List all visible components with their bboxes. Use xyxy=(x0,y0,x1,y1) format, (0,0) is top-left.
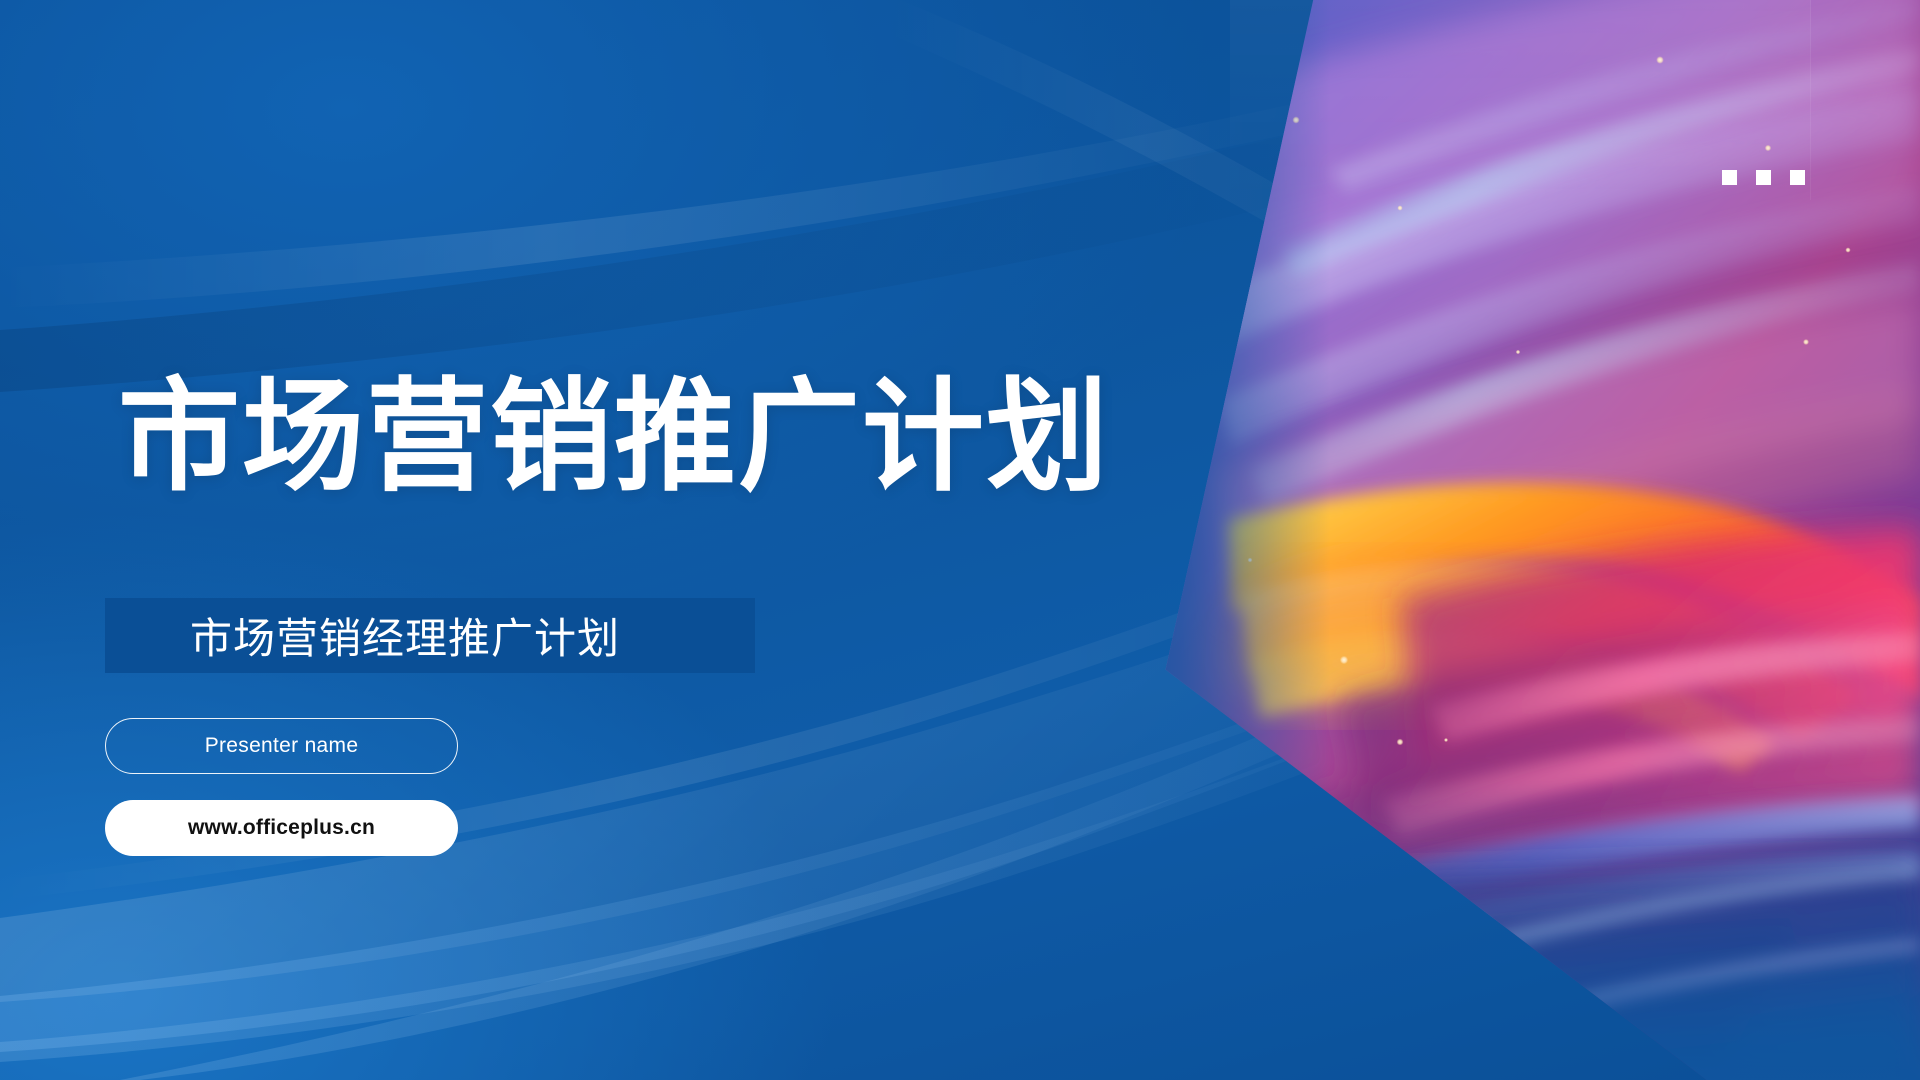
slide-content: 市场营销推广计划 市场营销经理推广计划 Presenter name www.o… xyxy=(0,0,1920,1080)
subtitle-banner: 市场营销经理推广计划 xyxy=(105,598,755,673)
website-button[interactable]: www.officeplus.cn xyxy=(105,800,458,856)
presentation-slide: 市场营销推广计划 市场营销经理推广计划 Presenter name www.o… xyxy=(0,0,1920,1080)
slide-subtitle: 市场营销经理推广计划 xyxy=(190,605,620,666)
presenter-name-label: Presenter name xyxy=(205,734,359,758)
website-label: www.officeplus.cn xyxy=(188,816,375,840)
slide-title: 市场营销推广计划 xyxy=(118,372,1110,504)
presenter-name-button[interactable]: Presenter name xyxy=(105,718,458,774)
